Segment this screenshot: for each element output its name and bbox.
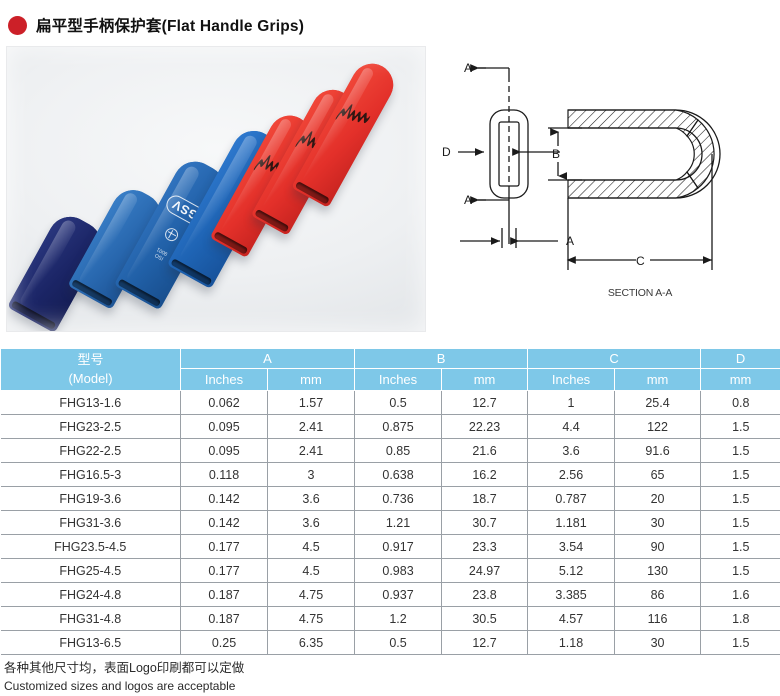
cell-d-mm: 1.5 bbox=[701, 559, 780, 583]
cell-a-mm: 6.35 bbox=[268, 631, 355, 655]
cell-a-mm: 3 bbox=[268, 463, 355, 487]
cell-d-mm: 1.5 bbox=[701, 511, 780, 535]
cell-model: FHG23-2.5 bbox=[1, 415, 181, 439]
cell-c-mm: 91.6 bbox=[615, 439, 701, 463]
table-row: FHG31-4.80.1874.751.230.54.571161.8 bbox=[1, 607, 780, 631]
cell-b-mm: 16.2 bbox=[442, 463, 528, 487]
header-group-b: B bbox=[355, 349, 528, 369]
cell-c-inches: 4.4 bbox=[528, 415, 615, 439]
footer-line-cn: 各种其他尺寸均，表面Logo印刷都可以定做 bbox=[4, 660, 604, 678]
cell-b-inches: 0.937 bbox=[355, 583, 442, 607]
cell-model: FHG31-3.6 bbox=[1, 511, 181, 535]
cell-a-mm: 4.75 bbox=[268, 607, 355, 631]
header-unit-c-mm: mm bbox=[615, 369, 701, 391]
cell-c-inches: 3.54 bbox=[528, 535, 615, 559]
cell-a-inches: 0.095 bbox=[181, 415, 268, 439]
cell-d-mm: 1.5 bbox=[701, 415, 780, 439]
cell-model: FHG24-4.8 bbox=[1, 583, 181, 607]
cell-d-mm: 1.5 bbox=[701, 439, 780, 463]
cell-b-inches: 0.638 bbox=[355, 463, 442, 487]
header-unit-d-mm: mm bbox=[701, 369, 780, 391]
cell-b-inches: 0.736 bbox=[355, 487, 442, 511]
cell-c-inches: 1.18 bbox=[528, 631, 615, 655]
cell-model: FHG13-1.6 bbox=[1, 391, 181, 415]
cell-a-inches: 0.25 bbox=[181, 631, 268, 655]
cell-b-inches: 0.85 bbox=[355, 439, 442, 463]
page-title-bar: 扁平型手柄保护套(Flat Handle Grips) bbox=[0, 8, 780, 42]
cell-b-mm: 22.23 bbox=[442, 415, 528, 439]
cell-model: FHG25-4.5 bbox=[1, 559, 181, 583]
cell-c-inches: 0.787 bbox=[528, 487, 615, 511]
table-row: FHG13-1.60.0621.570.512.7125.40.8 bbox=[1, 391, 780, 415]
cell-a-inches: 0.187 bbox=[181, 583, 268, 607]
label-b: B bbox=[552, 147, 560, 161]
table-row: FHG25-4.50.1774.50.98324.975.121301.5 bbox=[1, 559, 780, 583]
cell-c-mm: 30 bbox=[615, 631, 701, 655]
cell-b-mm: 30.7 bbox=[442, 511, 528, 535]
header-group-a: A bbox=[181, 349, 355, 369]
cell-d-mm: 1.5 bbox=[701, 487, 780, 511]
cell-c-mm: 65 bbox=[615, 463, 701, 487]
cell-a-inches: 0.187 bbox=[181, 607, 268, 631]
cell-b-mm: 18.7 bbox=[442, 487, 528, 511]
cell-c-mm: 30 bbox=[615, 511, 701, 535]
header-model: 型号 (Model) bbox=[1, 349, 181, 391]
cell-a-inches: 0.142 bbox=[181, 487, 268, 511]
cell-b-inches: 0.5 bbox=[355, 631, 442, 655]
label-a-right: A bbox=[566, 234, 574, 248]
table-row: FHG16.5-30.11830.63816.22.56651.5 bbox=[1, 463, 780, 487]
header-unit-a-inches: Inches bbox=[181, 369, 268, 391]
upper-section: GSV ISO 9001 bbox=[0, 44, 780, 336]
cell-d-mm: 1.6 bbox=[701, 583, 780, 607]
table-row: FHG23.5-4.50.1774.50.91723.33.54901.5 bbox=[1, 535, 780, 559]
cell-model: FHG23.5-4.5 bbox=[1, 535, 181, 559]
cell-model: FHG31-4.8 bbox=[1, 607, 181, 631]
cell-b-mm: 23.8 bbox=[442, 583, 528, 607]
cell-a-inches: 0.062 bbox=[181, 391, 268, 415]
footer-line-en: Customized sizes and logos are acceptabl… bbox=[4, 678, 604, 695]
cell-a-inches: 0.177 bbox=[181, 559, 268, 583]
section-caption: SECTION A-A bbox=[608, 287, 673, 299]
table-row: FHG22-2.50.0952.410.8521.63.691.61.5 bbox=[1, 439, 780, 463]
cell-model: FHG22-2.5 bbox=[1, 439, 181, 463]
table-body: FHG13-1.60.0621.570.512.7125.40.8FHG23-2… bbox=[1, 391, 780, 655]
cell-b-mm: 24.97 bbox=[442, 559, 528, 583]
header-unit-c-inches: Inches bbox=[528, 369, 615, 391]
header-unit-b-mm: mm bbox=[442, 369, 528, 391]
cell-c-mm: 20 bbox=[615, 487, 701, 511]
cell-c-inches: 5.12 bbox=[528, 559, 615, 583]
header-group-d: D bbox=[701, 349, 780, 369]
cell-b-mm: 12.7 bbox=[442, 631, 528, 655]
cell-c-inches: 3.6 bbox=[528, 439, 615, 463]
cell-b-inches: 1.21 bbox=[355, 511, 442, 535]
page-title: 扁平型手柄保护套(Flat Handle Grips) bbox=[36, 14, 304, 36]
cell-a-mm: 3.6 bbox=[268, 511, 355, 535]
cell-b-inches: 1.2 bbox=[355, 607, 442, 631]
technical-drawing: A A A D B C SECTION A-A bbox=[440, 48, 776, 332]
cell-c-mm: 86 bbox=[615, 583, 701, 607]
cell-a-inches: 0.142 bbox=[181, 511, 268, 535]
table-header-group-row: 型号 (Model) A B C D bbox=[1, 349, 780, 369]
header-unit-a-mm: mm bbox=[268, 369, 355, 391]
table-row: FHG24-4.80.1874.750.93723.83.385861.6 bbox=[1, 583, 780, 607]
table-row: FHG23-2.50.0952.410.87522.234.41221.5 bbox=[1, 415, 780, 439]
cell-model: FHG13-6.5 bbox=[1, 631, 181, 655]
cell-a-mm: 1.57 bbox=[268, 391, 355, 415]
cell-a-mm: 4.5 bbox=[268, 559, 355, 583]
cell-a-mm: 4.5 bbox=[268, 535, 355, 559]
cell-a-inches: 0.095 bbox=[181, 439, 268, 463]
cell-b-mm: 21.6 bbox=[442, 439, 528, 463]
cell-a-mm: 4.75 bbox=[268, 583, 355, 607]
table-row: FHG19-3.60.1423.60.73618.70.787201.5 bbox=[1, 487, 780, 511]
cell-d-mm: 1.8 bbox=[701, 607, 780, 631]
product-spec-page: 扁平型手柄保护套(Flat Handle Grips) GSV ISO 9001 bbox=[0, 0, 780, 696]
label-c: C bbox=[636, 254, 645, 268]
product-photo: GSV ISO 9001 bbox=[6, 46, 426, 332]
cell-a-mm: 2.41 bbox=[268, 439, 355, 463]
cell-c-mm: 122 bbox=[615, 415, 701, 439]
footer-note: 各种其他尺寸均，表面Logo印刷都可以定做 Customized sizes a… bbox=[4, 660, 604, 695]
cell-c-mm: 116 bbox=[615, 607, 701, 631]
header-model-cn: 型号 bbox=[1, 351, 180, 370]
cell-b-inches: 0.5 bbox=[355, 391, 442, 415]
cell-c-inches: 3.385 bbox=[528, 583, 615, 607]
table-row: FHG13-6.50.256.350.512.71.18301.5 bbox=[1, 631, 780, 655]
cell-c-inches: 1.181 bbox=[528, 511, 615, 535]
cell-a-mm: 2.41 bbox=[268, 415, 355, 439]
cell-d-mm: 1.5 bbox=[701, 463, 780, 487]
cell-d-mm: 1.5 bbox=[701, 535, 780, 559]
cell-b-inches: 0.983 bbox=[355, 559, 442, 583]
cell-a-inches: 0.118 bbox=[181, 463, 268, 487]
header-unit-b-inches: Inches bbox=[355, 369, 442, 391]
specification-table: 型号 (Model) A B C D Inches mm Inches mm I… bbox=[0, 348, 780, 655]
cell-a-inches: 0.177 bbox=[181, 535, 268, 559]
label-a-bottom: A bbox=[464, 193, 472, 207]
cell-c-inches: 1 bbox=[528, 391, 615, 415]
drawing-svg: A A A D B C SECTION A-A bbox=[440, 48, 776, 332]
cell-b-inches: 0.917 bbox=[355, 535, 442, 559]
cell-b-mm: 30.5 bbox=[442, 607, 528, 631]
bullet-icon bbox=[8, 16, 27, 35]
table-head: 型号 (Model) A B C D Inches mm Inches mm I… bbox=[1, 349, 780, 391]
cell-a-mm: 3.6 bbox=[268, 487, 355, 511]
label-a-top: A bbox=[464, 61, 472, 75]
cell-d-mm: 0.8 bbox=[701, 391, 780, 415]
cell-model: FHG16.5-3 bbox=[1, 463, 181, 487]
header-model-en: (Model) bbox=[1, 370, 180, 389]
cell-c-inches: 2.56 bbox=[528, 463, 615, 487]
cell-d-mm: 1.5 bbox=[701, 631, 780, 655]
cell-c-mm: 25.4 bbox=[615, 391, 701, 415]
table-row: FHG31-3.60.1423.61.2130.71.181301.5 bbox=[1, 511, 780, 535]
cell-model: FHG19-3.6 bbox=[1, 487, 181, 511]
cell-b-mm: 12.7 bbox=[442, 391, 528, 415]
header-group-c: C bbox=[528, 349, 701, 369]
cell-c-inches: 4.57 bbox=[528, 607, 615, 631]
cell-b-mm: 23.3 bbox=[442, 535, 528, 559]
cell-b-inches: 0.875 bbox=[355, 415, 442, 439]
label-d: D bbox=[442, 145, 451, 159]
cell-c-mm: 90 bbox=[615, 535, 701, 559]
cell-c-mm: 130 bbox=[615, 559, 701, 583]
